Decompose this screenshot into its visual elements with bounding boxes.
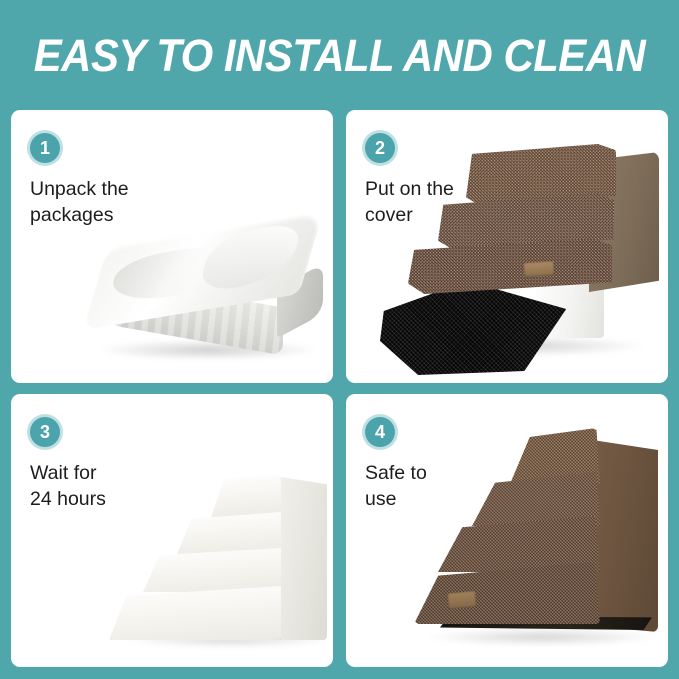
step-number-badge-1: 1 bbox=[30, 133, 60, 163]
sealed-foam-package-image bbox=[81, 228, 331, 378]
step-card-3: 3 Wait for 24 hours bbox=[11, 394, 333, 667]
step-card-1: 1 Unpack the packages bbox=[11, 110, 333, 383]
step-caption-1: Unpack the packages bbox=[30, 176, 190, 228]
cover-step-faces bbox=[404, 140, 634, 300]
cover-step-face-bottom bbox=[408, 236, 612, 294]
brand-label-patch bbox=[447, 591, 476, 609]
foam-step-1 bbox=[211, 474, 281, 518]
step-number-badge-4: 4 bbox=[365, 417, 395, 447]
white-foam-stairs-image bbox=[107, 460, 333, 650]
brown-cover-over-foam-image bbox=[374, 140, 668, 375]
pet-stairs-shadow bbox=[428, 628, 656, 646]
step-number-badge-3: 3 bbox=[30, 417, 60, 447]
step-card-2: 2 Put on the cover bbox=[346, 110, 668, 383]
brown-covered-pet-stairs-image bbox=[414, 424, 664, 650]
steps-grid: 1 Unpack the packages 2 Put on the cover bbox=[11, 110, 668, 667]
foam-step-2 bbox=[177, 512, 281, 554]
covered-step-3 bbox=[438, 516, 600, 572]
package-shadow bbox=[99, 340, 317, 360]
page-title: EASY TO INSTALL AND CLEAN bbox=[24, 30, 655, 82]
step-card-4: 4 Safe to use bbox=[346, 394, 668, 667]
brand-label-patch bbox=[524, 261, 555, 277]
easy-to-install-and-clean-infographic: EASY TO INSTALL AND CLEAN 1 Unpack the p… bbox=[0, 0, 679, 679]
foam-step-4 bbox=[109, 586, 281, 640]
foam-stairs-side-panel bbox=[275, 476, 327, 640]
foam-step-3 bbox=[143, 548, 281, 592]
